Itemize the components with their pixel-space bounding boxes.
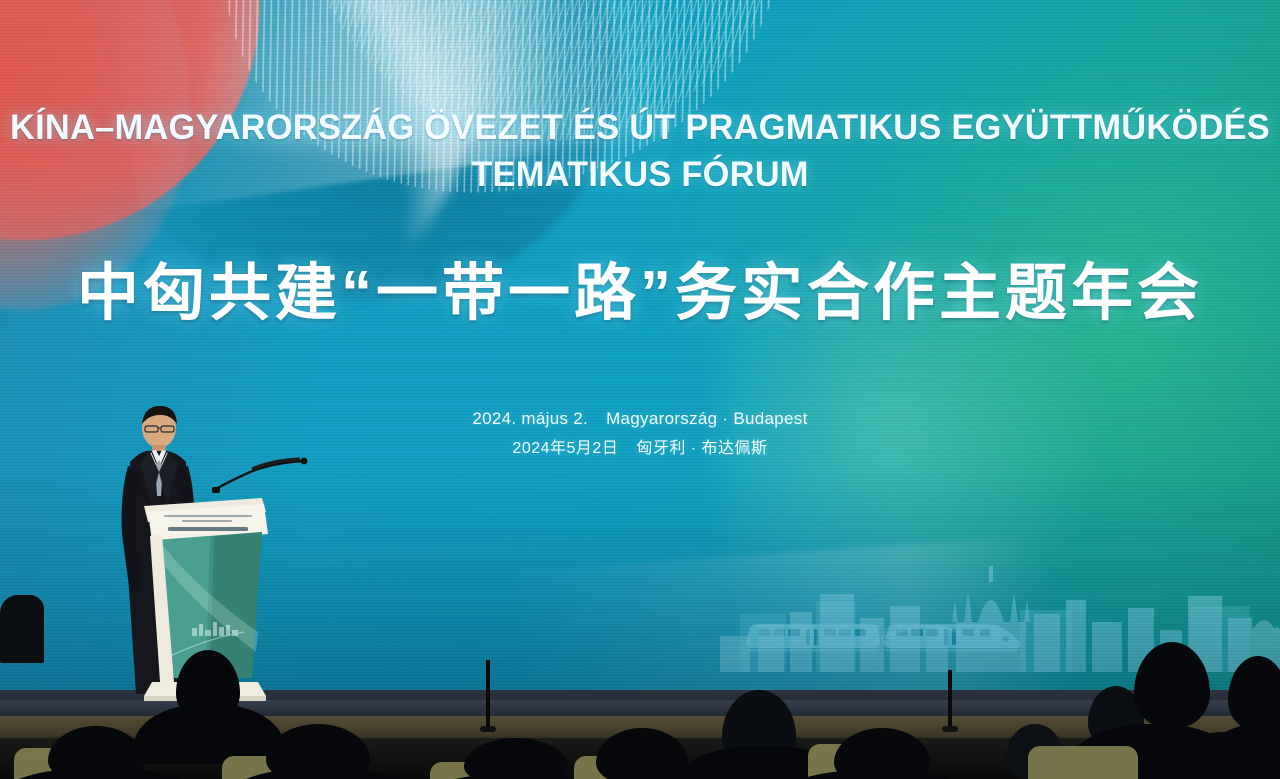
location-cn-text: 匈牙利 · 布达佩斯 [636, 440, 767, 457]
audience-head [1228, 656, 1280, 730]
table-microphone [948, 670, 952, 728]
conference-photo: KÍNA–MAGYARORSZÁG ÖVEZET ÉS ÚT PRAGMATIK… [0, 0, 1280, 779]
event-title-hungarian: KÍNA–MAGYARORSZÁG ÖVEZET ÉS ÚT PRAGMATIK… [10, 104, 1271, 198]
date-cn-text: 2024年5月2日 [512, 440, 618, 457]
table-microphone [486, 660, 490, 728]
location-hu-text: Magyarország · Budapest [606, 409, 808, 428]
audience-head-foreground [464, 738, 568, 779]
audience-head [1134, 642, 1210, 728]
date-hu-text: 2024. május 2. [472, 409, 588, 428]
event-title-chinese: 中匈共建“一带一路”务实合作主题年会 [0, 252, 1280, 336]
audience-head-foreground [596, 728, 688, 779]
audience-row [0, 628, 1280, 779]
table-microphone-base [480, 726, 496, 732]
audience-chair [1028, 746, 1138, 779]
table-microphone-base [942, 726, 958, 732]
audience-shoulders [134, 704, 284, 764]
